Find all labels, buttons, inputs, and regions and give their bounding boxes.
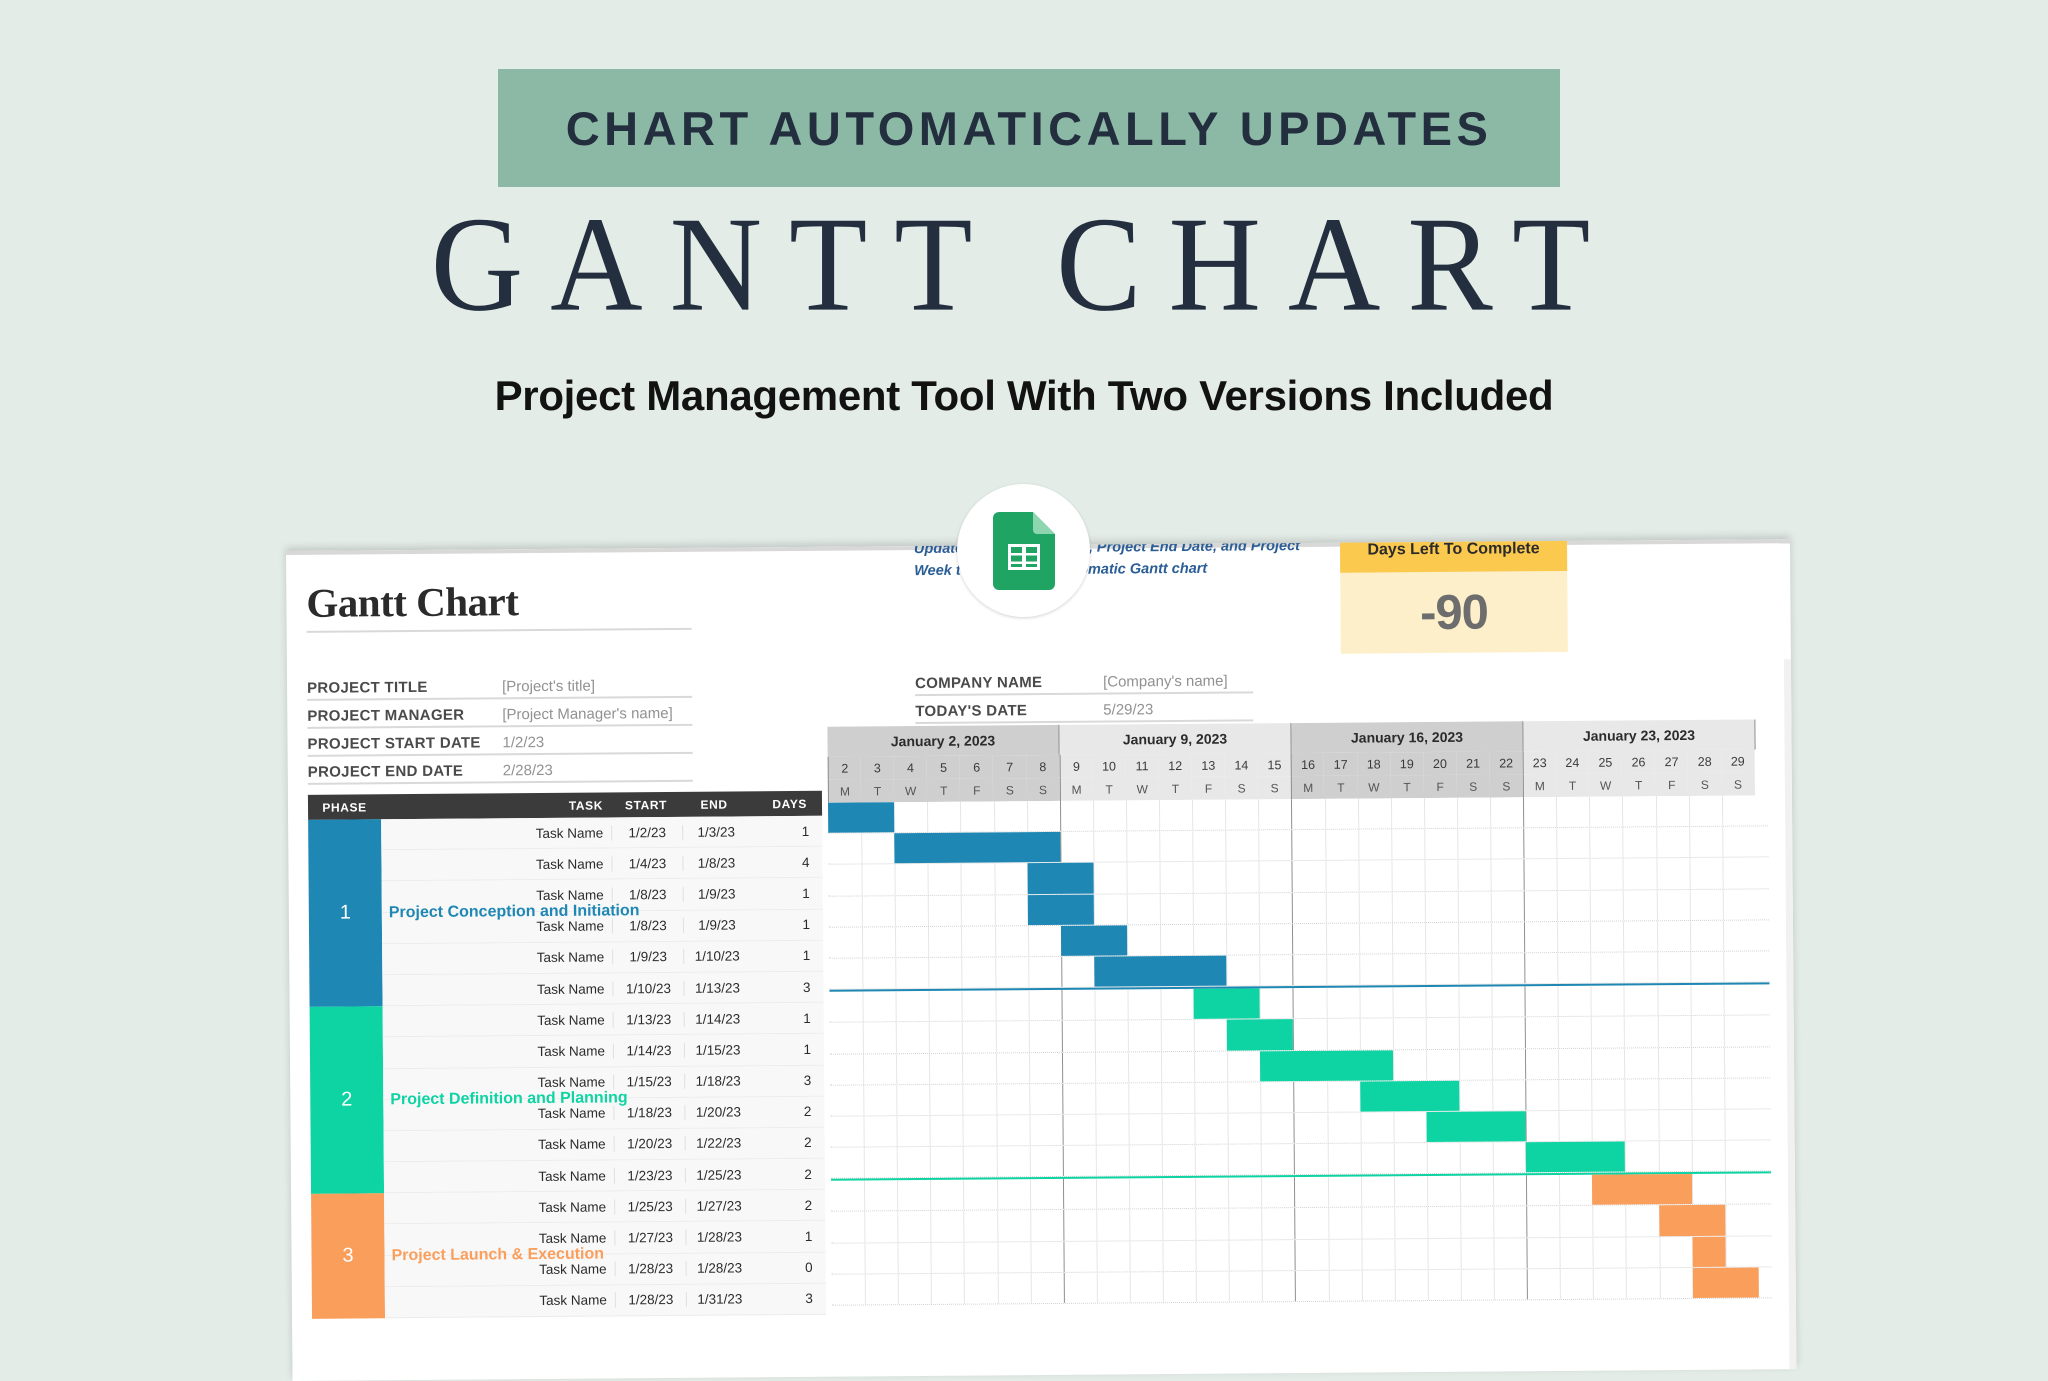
google-sheets-icon — [993, 512, 1055, 590]
gantt-gridline — [862, 896, 863, 926]
gantt-gridline — [1293, 988, 1294, 1018]
gantt-gridline — [1194, 1020, 1195, 1050]
gantt-gridline — [1129, 1145, 1130, 1175]
gantt-gridline — [864, 1181, 865, 1211]
gantt-gridline — [997, 1242, 998, 1272]
gantt-gridline — [1194, 1051, 1195, 1081]
gantt-gridline — [1392, 1019, 1393, 1049]
gantt-gridline — [1259, 924, 1260, 954]
gantt-gridline — [1626, 1237, 1627, 1267]
gantt-bar[interactable] — [1227, 1019, 1293, 1050]
gantt-gridline — [1394, 1208, 1395, 1238]
gantt-day-letter: T — [1324, 776, 1357, 799]
gantt-day-number: 19 — [1390, 752, 1423, 775]
gantt-gridline — [1096, 1272, 1097, 1302]
gantt-gridline — [1559, 1206, 1560, 1236]
gantt-gridline — [1556, 828, 1557, 858]
gantt-day-letter: T — [1390, 775, 1423, 798]
cell-days: 4 — [749, 855, 819, 871]
gantt-gridline — [1691, 1047, 1692, 1077]
gantt-day-letter: S — [1490, 774, 1523, 797]
gantt-bar[interactable] — [1027, 863, 1093, 894]
cell-days: 2 — [751, 1104, 821, 1120]
gantt-gridline — [1228, 1113, 1229, 1143]
gantt-gridline — [1295, 1209, 1296, 1239]
gantt-gridline — [1525, 1049, 1526, 1079]
gantt-day-number: 20 — [1423, 752, 1456, 775]
gantt-day-number: 27 — [1655, 750, 1688, 773]
gantt-gridline — [863, 992, 864, 1022]
gantt-gridline — [1557, 859, 1558, 889]
gantt-day-letter: M — [828, 779, 861, 802]
gantt-gridline — [1625, 1079, 1626, 1109]
gantt-gridline — [1658, 1079, 1659, 1109]
gantt-gridline — [1294, 1177, 1295, 1207]
gantt-gridline — [895, 958, 896, 988]
gantt-bar[interactable] — [1592, 1174, 1692, 1205]
field-value[interactable]: [Company's name] — [1103, 672, 1253, 690]
gantt-gridline — [1128, 1083, 1129, 1113]
gantt-gridline — [1722, 858, 1723, 888]
gantt-gridline — [1657, 985, 1658, 1015]
gantt-gridline — [1525, 1080, 1526, 1110]
field-label: PROJECT MANAGER — [307, 706, 464, 724]
gantt-day-number: 6 — [960, 755, 993, 778]
gantt-gridline — [1192, 831, 1193, 861]
gantt-gridline — [1524, 953, 1525, 983]
phase-number: 2 — [310, 1006, 384, 1194]
gantt-gridline — [931, 1274, 932, 1304]
gantt-gridline — [1328, 1271, 1329, 1301]
gantt-gridline — [962, 991, 963, 1021]
cell-end: 1/15/23 — [684, 1042, 751, 1058]
gantt-gridline — [1689, 827, 1690, 857]
gantt-bar[interactable] — [828, 802, 894, 833]
gantt-gridline — [1425, 954, 1426, 984]
gantt-day-letter: S — [1026, 778, 1059, 801]
cell-days: 1 — [749, 823, 819, 839]
gantt-gridline — [1690, 921, 1691, 951]
gantt-gridline — [1658, 1141, 1659, 1171]
gantt-gridline — [1360, 1112, 1361, 1142]
days-left-card: Days Left To Complete -90 — [1340, 539, 1568, 654]
field-label: PROJECT END DATE — [308, 762, 464, 780]
table-body: 1Task Name1/2/231/3/231Task Name1/4/231/… — [308, 816, 826, 1319]
gantt-gridline — [995, 991, 996, 1021]
gantt-gridline — [1723, 1016, 1724, 1046]
gantt-gridline — [1391, 892, 1392, 922]
gantt-gridline — [1492, 1018, 1493, 1048]
gantt-gridline — [1127, 894, 1128, 924]
gantt-gridline — [1261, 1178, 1262, 1208]
gantt-day-letter: T — [1159, 777, 1192, 800]
gantt-week-label: January 16, 2023 — [1291, 721, 1523, 753]
gantt-gridline — [1391, 798, 1392, 828]
gantt-gridline — [1394, 1270, 1395, 1300]
gantt-gridline — [1161, 1020, 1162, 1050]
cell-end: 1/31/23 — [686, 1292, 753, 1308]
gantt-gridline — [931, 1243, 932, 1273]
cell-end: 1/9/23 — [683, 886, 750, 902]
gantt-gridline — [963, 1147, 964, 1177]
gantt-day-letter: F — [1655, 773, 1688, 796]
gantt-gridline — [1425, 892, 1426, 922]
gantt-gridline — [865, 1243, 866, 1273]
gantt-gridline — [1030, 1211, 1031, 1241]
gantt-gridline — [1558, 1080, 1559, 1110]
gantt-day-letter: W — [1589, 774, 1622, 797]
gantt-bar[interactable] — [1194, 988, 1260, 1019]
gantt-gridline — [1162, 1145, 1163, 1175]
gantt-gridline — [1559, 1111, 1560, 1141]
gantt-gridline — [1225, 800, 1226, 830]
gantt-gridline — [1424, 829, 1425, 859]
gantt-day-number: 26 — [1622, 750, 1655, 773]
promo-banner-text: CHART AUTOMATICALLY UPDATES — [566, 101, 1493, 156]
gantt-gridline — [1325, 924, 1326, 954]
cell-end: 1/10/23 — [683, 949, 750, 965]
gantt-gridline — [1359, 1019, 1360, 1049]
vertical-scrollbar[interactable] — [1784, 659, 1797, 1369]
gantt-gridline — [1524, 891, 1525, 921]
field-value[interactable]: 5/29/23 — [1103, 700, 1253, 718]
gantt-gridline — [1657, 1048, 1658, 1078]
cell-days: 1 — [750, 917, 820, 933]
gantt-gridline — [1657, 1017, 1658, 1047]
gantt-gridline — [993, 801, 994, 831]
gantt-gridline — [862, 927, 863, 957]
field-value[interactable]: 2/28/23 — [503, 760, 693, 778]
gantt-gridline — [1095, 1115, 1096, 1145]
gantt-day-number: 29 — [1721, 749, 1754, 772]
field-value[interactable]: [Project Manager's name] — [502, 704, 692, 722]
gantt-gridline — [1228, 1145, 1229, 1175]
gantt-gridline — [1523, 828, 1524, 858]
gantt-chart: January 2, 2023January 9, 2023January 16… — [827, 719, 1772, 1305]
gantt-gridline — [1229, 1271, 1230, 1301]
gantt-gridline — [1656, 827, 1657, 857]
gantt-gridline — [1094, 990, 1095, 1020]
gantt-gridline — [994, 864, 995, 894]
cell-end: 1/22/23 — [685, 1136, 752, 1152]
gantt-gridline — [1361, 1239, 1362, 1269]
cell-end: 1/3/23 — [682, 824, 749, 840]
gantt-gridline — [1625, 1110, 1626, 1140]
gantt-gridline — [864, 1148, 865, 1178]
gantt-day-number: 17 — [1324, 753, 1357, 776]
gantt-row — [832, 1267, 1772, 1306]
gantt-day-letter: T — [927, 779, 960, 802]
gantt-gridline — [1457, 860, 1458, 890]
gantt-gridline — [1093, 832, 1094, 862]
gantt-gridline — [1557, 891, 1558, 921]
cell-end: 1/27/23 — [685, 1198, 752, 1214]
gantt-bar[interactable] — [1426, 1111, 1526, 1142]
gantt-day-letter: F — [960, 778, 993, 801]
gantt-gridline — [1689, 858, 1690, 888]
gantt-gridline — [1558, 1017, 1559, 1047]
gantt-gridline — [1160, 894, 1161, 924]
gantt-day-number: 28 — [1688, 750, 1721, 773]
gantt-gridline — [1060, 801, 1061, 831]
cell-days: 3 — [750, 979, 820, 995]
gantt-day-letter: S — [1225, 776, 1258, 799]
gantt-gridline — [1259, 862, 1260, 892]
gantt-gridline — [994, 926, 995, 956]
gantt-gridline — [929, 958, 930, 988]
gantt-gridline — [996, 1180, 997, 1210]
field-label: TODAY'S DATE — [915, 702, 1027, 720]
gantt-gridline — [1095, 1146, 1096, 1176]
gantt-gridline — [929, 991, 930, 1021]
gantt-bar[interactable] — [1692, 1236, 1725, 1266]
gantt-gridline — [996, 1146, 997, 1176]
gantt-gridline — [1291, 799, 1292, 829]
gantt-gridline — [1526, 1207, 1527, 1237]
gantt-gridline — [1590, 922, 1591, 952]
gantt-gridline — [1427, 1239, 1428, 1269]
gantt-gridline — [1527, 1269, 1528, 1299]
gantt-gridline — [1557, 953, 1558, 983]
cell-end: 1/20/23 — [684, 1105, 751, 1121]
gantt-gridline — [1028, 1021, 1029, 1051]
gantt-gridline — [1128, 1114, 1129, 1144]
gantt-day-letter: T — [1093, 777, 1126, 800]
gantt-gridline — [1162, 1241, 1163, 1271]
gantt-gridline — [1557, 922, 1558, 952]
gantt-gridline — [1657, 952, 1658, 982]
gantt-gridline — [1228, 1178, 1229, 1208]
gantt-gridline — [961, 926, 962, 956]
gantt-gridline — [1626, 1206, 1627, 1236]
gantt-gridline — [897, 1180, 898, 1210]
cell-days: 1 — [750, 886, 820, 902]
gantt-gridline — [1196, 1272, 1197, 1302]
gantt-bar[interactable] — [894, 832, 1060, 863]
gantt-gridline — [1358, 861, 1359, 891]
gantt-gridline — [1358, 799, 1359, 829]
gantt-gridline — [1525, 986, 1526, 1016]
gantt-gridline — [1524, 922, 1525, 952]
gantt-gridline — [897, 1147, 898, 1177]
gantt-bar[interactable] — [1360, 1080, 1460, 1111]
gantt-gridline — [898, 1243, 899, 1273]
days-left-label: Days Left To Complete — [1340, 539, 1567, 573]
gantt-gridline — [1656, 890, 1657, 920]
gantt-gridline — [1658, 1110, 1659, 1140]
gantt-day-number: 25 — [1589, 751, 1622, 774]
field-label: PROJECT START DATE — [307, 734, 480, 752]
gantt-gridline — [1325, 830, 1326, 860]
gantt-gridline — [896, 1023, 897, 1053]
gantt-grid — [828, 795, 1772, 1305]
cell-start: 1/28/23 — [615, 1261, 686, 1277]
gantt-gridline — [1723, 920, 1724, 950]
gantt-gridline — [1590, 828, 1591, 858]
gantt-gridline — [1096, 1179, 1097, 1209]
gantt-gridline — [963, 1180, 964, 1210]
gantt-gridline — [1558, 986, 1559, 1016]
cell-days: 3 — [753, 1291, 823, 1307]
gantt-day-number: 14 — [1225, 753, 1258, 776]
gantt-gridline — [1491, 922, 1492, 952]
gantt-gridline — [1358, 830, 1359, 860]
gantt-gridline — [1523, 797, 1524, 827]
gantt-day-number: 5 — [927, 756, 960, 779]
gantt-gridline — [1360, 1144, 1361, 1174]
gantt-bar[interactable] — [1061, 925, 1127, 956]
gantt-gridline — [1159, 863, 1160, 893]
gantt-gridline — [1259, 893, 1260, 923]
gantt-gridline — [1691, 1141, 1692, 1171]
google-sheets-badge — [957, 484, 1090, 617]
gantt-gridline — [1556, 797, 1557, 827]
gantt-gridline — [1029, 1115, 1030, 1145]
gantt-gridline — [1493, 1207, 1494, 1237]
gantt-gridline — [1490, 860, 1491, 890]
gantt-day-letter: S — [1688, 773, 1721, 796]
cell-end: 1/14/23 — [684, 1011, 751, 1027]
gantt-gridline — [1127, 990, 1128, 1020]
gantt-gridline — [1293, 955, 1294, 985]
gantt-bar[interactable] — [1692, 1267, 1758, 1298]
gantt-gridline — [1689, 796, 1690, 826]
gantt-gridline — [964, 1274, 965, 1304]
gantt-gridline — [1724, 1078, 1725, 1108]
gantt-gridline — [1126, 800, 1127, 830]
gantt-gridline — [1623, 921, 1624, 951]
gantt-gridline — [1623, 859, 1624, 889]
gantt-gridline — [961, 864, 962, 894]
gantt-day-letter: M — [1523, 774, 1556, 797]
cell-end: 1/13/23 — [683, 980, 750, 996]
gantt-gridline — [1723, 952, 1724, 982]
gantt-gridline — [1227, 1082, 1228, 1112]
phase-number: 3 — [311, 1193, 385, 1318]
cell-days: 2 — [752, 1135, 822, 1151]
gantt-gridline — [1292, 830, 1293, 860]
gantt-gridline — [1062, 1146, 1063, 1176]
gantt-gridline — [897, 1212, 898, 1242]
gantt-gridline — [1493, 1143, 1494, 1173]
gantt-gridline — [1424, 798, 1425, 828]
gantt-gridline — [1492, 1080, 1493, 1110]
gantt-gridline — [1261, 1209, 1262, 1239]
gantt-gridline — [1656, 921, 1657, 951]
gantt-gridline — [995, 1053, 996, 1083]
gantt-day-number: 4 — [894, 756, 927, 779]
cell-days: 3 — [751, 1073, 821, 1089]
cell-end: 1/28/23 — [686, 1261, 753, 1277]
gantt-day-letter: F — [1423, 775, 1456, 798]
gantt-gridline — [1460, 1238, 1461, 1268]
gantt-day-number: 24 — [1556, 751, 1589, 774]
gantt-gridline — [1622, 797, 1623, 827]
gantt-gridline — [1093, 801, 1094, 831]
gantt-gridline — [1359, 955, 1360, 985]
gantt-gridline — [1328, 1239, 1329, 1269]
gantt-gridline — [1391, 830, 1392, 860]
gantt-gridline — [1129, 1210, 1130, 1240]
gantt-gridline — [1392, 923, 1393, 953]
gantt-gridline — [1325, 892, 1326, 922]
gantt-gridline — [1559, 1175, 1560, 1205]
gantt-gridline — [1491, 987, 1492, 1017]
gantt-gridline — [996, 1084, 997, 1114]
column-header-task: TASK — [381, 798, 611, 814]
cell-start: 1/25/23 — [614, 1199, 685, 1215]
gantt-gridline — [1095, 1083, 1096, 1113]
gantt-gridline — [895, 927, 896, 957]
gantt-gridline — [962, 1053, 963, 1083]
gantt-gridline — [1593, 1269, 1594, 1299]
gantt-bar[interactable] — [1260, 1050, 1393, 1081]
field-value[interactable]: [Project's title] — [502, 676, 692, 694]
gantt-day-number: 18 — [1357, 752, 1390, 775]
gantt-gridline — [964, 1242, 965, 1272]
gantt-gridline — [1261, 1144, 1262, 1174]
gantt-day-number: 9 — [1059, 755, 1092, 778]
gantt-gridline — [1294, 1113, 1295, 1143]
gantt-gridline — [863, 1085, 864, 1115]
gantt-day-letter: M — [1059, 778, 1092, 801]
gantt-gridline — [1324, 799, 1325, 829]
gantt-gridline — [961, 895, 962, 925]
page-title: GANTT CHART — [0, 196, 2048, 332]
column-header-phase: PHASE — [308, 800, 381, 815]
gantt-gridline — [1426, 1050, 1427, 1080]
phase-block: 3Task Name1/25/231/27/232Task Name1/27/2… — [311, 1190, 826, 1319]
gantt-gridline — [1623, 890, 1624, 920]
gantt-gridline — [1590, 859, 1591, 889]
gantt-gridline — [1063, 1210, 1064, 1240]
gantt-gridline — [1724, 1141, 1725, 1171]
gantt-gridline — [1096, 1241, 1097, 1271]
gantt-gridline — [1260, 1082, 1261, 1112]
gantt-day-number: 3 — [861, 756, 894, 779]
gantt-day-letter: F — [1192, 777, 1225, 800]
gantt-gridline — [1624, 986, 1625, 1016]
gantt-gridline — [997, 1211, 998, 1241]
gantt-gridline — [895, 896, 896, 926]
phase-number: 1 — [308, 819, 382, 1007]
gantt-gridline — [1591, 1017, 1592, 1047]
gantt-gridline — [1427, 1207, 1428, 1237]
gantt-day-letter: W — [894, 779, 927, 802]
gantt-gridline — [863, 1023, 864, 1053]
gantt-gridline — [963, 1116, 964, 1146]
column-header-days: DAYS — [747, 796, 817, 811]
gantt-bar[interactable] — [1094, 956, 1227, 987]
gantt-bar[interactable] — [1526, 1142, 1626, 1173]
gantt-gridline — [1163, 1272, 1164, 1302]
gantt-gridline — [1724, 1047, 1725, 1077]
gantt-gridline — [1294, 1144, 1295, 1174]
gantt-gridline — [930, 1147, 931, 1177]
gantt-gridline — [1425, 923, 1426, 953]
gantt-bar[interactable] — [1027, 894, 1093, 925]
gantt-gridline — [963, 1084, 964, 1114]
field-value[interactable]: 1/2/23 — [502, 732, 692, 750]
gantt-gridline — [1192, 800, 1193, 830]
gantt-gridline — [1591, 1048, 1592, 1078]
gantt-gridline — [1062, 1052, 1063, 1082]
gantt-gridline — [928, 927, 929, 957]
gantt-day-letter: S — [1721, 772, 1754, 795]
gantt-bar[interactable] — [1659, 1205, 1725, 1236]
gantt-gridline — [898, 1274, 899, 1304]
gantt-gridline — [1589, 797, 1590, 827]
